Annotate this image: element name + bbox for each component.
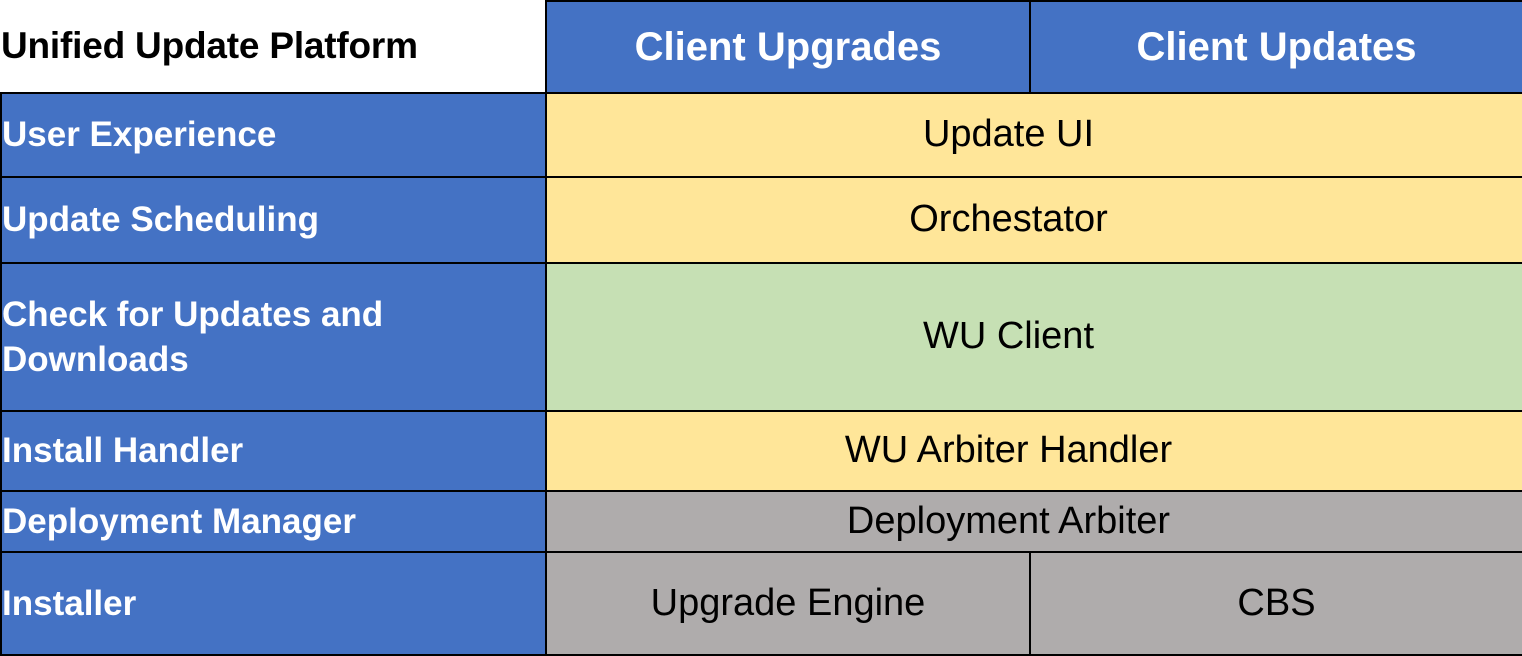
cell-cbs: CBS bbox=[1030, 552, 1522, 655]
unified-update-platform-table: Unified Update Platform Client Upgrades … bbox=[0, 0, 1522, 656]
table-row: User Experience Update UI bbox=[1, 93, 1522, 178]
cell-wu-client: WU Client bbox=[546, 263, 1522, 412]
cell-upgrade-engine: Upgrade Engine bbox=[546, 552, 1030, 655]
row-label-deployment-manager: Deployment Manager bbox=[1, 491, 546, 552]
row-label-install-handler: Install Handler bbox=[1, 411, 546, 490]
cell-deployment-arbiter: Deployment Arbiter bbox=[546, 491, 1522, 552]
cell-orchestator: Orchestator bbox=[546, 177, 1522, 263]
table-row: Install Handler WU Arbiter Handler bbox=[1, 411, 1522, 490]
cell-wu-arbiter-handler: WU Arbiter Handler bbox=[546, 411, 1522, 490]
table-row: Update Scheduling Orchestator bbox=[1, 177, 1522, 263]
column-header-client-upgrades: Client Upgrades bbox=[546, 1, 1030, 93]
row-label-user-experience: User Experience bbox=[1, 93, 546, 178]
page-title: Unified Update Platform bbox=[1, 1, 546, 93]
column-header-client-updates: Client Updates bbox=[1030, 1, 1522, 93]
row-label-update-scheduling: Update Scheduling bbox=[1, 177, 546, 263]
table-header-row: Unified Update Platform Client Upgrades … bbox=[1, 1, 1522, 93]
table-row: Check for Updates and Downloads WU Clien… bbox=[1, 263, 1522, 412]
row-label-installer: Installer bbox=[1, 552, 546, 655]
table-row: Installer Upgrade Engine CBS bbox=[1, 552, 1522, 655]
cell-update-ui: Update UI bbox=[546, 93, 1522, 178]
row-label-check-for-updates-and-downloads: Check for Updates and Downloads bbox=[1, 263, 546, 412]
table-row: Deployment Manager Deployment Arbiter bbox=[1, 491, 1522, 552]
